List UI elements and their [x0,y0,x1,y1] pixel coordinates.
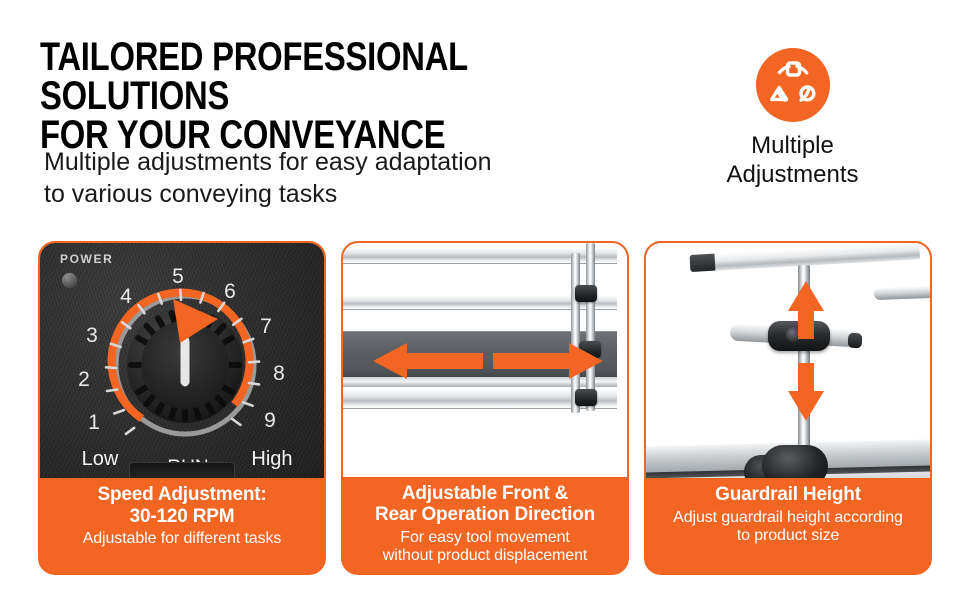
guardrail-height-photo [646,243,930,478]
feature-card-guardrail-height: Guardrail Height Adjust guardrail height… [644,241,932,575]
run-slot [129,462,235,478]
svg-text:9: 9 [264,409,276,432]
svg-text:6: 6 [224,280,236,303]
svg-text:1: 1 [88,411,100,434]
guardrail-post-rear [586,243,595,411]
guardrail-end-cap [690,254,716,272]
caption-operation-direction: Adjustable Front & Rear Operation Direct… [343,477,627,573]
conveyor-caster-wheel [762,445,828,478]
svg-text:8: 8 [273,362,285,385]
feature-card-operation-direction: Adjustable Front & Rear Operation Direct… [341,241,629,575]
guardrail-clamp-bottom [575,389,597,406]
caption-title: Speed Adjustment: 30-120 RPM [48,484,316,527]
guardrail-side-bar [874,286,930,300]
svg-text:Low: Low [82,448,119,470]
svg-text:5: 5 [172,265,184,288]
arrow-left-icon [369,341,487,381]
caption-subtitle: For easy tool movement without product d… [351,529,619,565]
caption-guardrail-height: Guardrail Height Adjust guardrail height… [646,478,930,573]
speed-dial-photo: POWER [40,243,324,478]
page-title: TAILORED PROFESSIONAL SOLUTIONS FOR YOUR… [40,38,581,156]
arrow-right-icon [489,341,607,381]
arrow-down-icon [786,361,826,423]
caption-subtitle: Adjust guardrail height according to pro… [654,509,922,545]
page-subtitle: Multiple adjustments for easy adaptation… [44,147,664,211]
marketing-feature-graphic: TAILORED PROFESSIONAL SOLUTIONS FOR YOUR… [0,0,970,600]
speed-dial-graphic: 1 2 3 4 5 6 7 8 9 Low High [40,243,324,478]
caption-subtitle: Adjustable for different tasks [48,530,316,548]
multiple-adjustments-icon [756,48,830,122]
caption-speed-adjustment: Speed Adjustment: 30-120 RPM Adjustable … [40,478,324,573]
guardrail-cross-bar-cap [848,333,863,349]
caption-title: Guardrail Height [654,484,922,506]
guardrail-clamp-top [575,285,597,302]
svg-text:3: 3 [86,324,98,347]
multiple-adjustments-badge: Multiple Adjustments [690,48,895,190]
feature-card-speed-adjustment: POWER [38,241,326,575]
conveyor-direction-photo [343,243,627,477]
caption-title: Adjustable Front & Rear Operation Direct… [351,483,619,526]
badge-label: Multiple Adjustments [690,131,895,190]
svg-text:4: 4 [120,285,132,308]
header-section: TAILORED PROFESSIONAL SOLUTIONS FOR YOUR… [0,0,970,230]
svg-text:2: 2 [78,368,90,391]
svg-text:High: High [251,448,292,470]
feature-panel-row: POWER [38,241,932,575]
arrow-up-icon [786,279,826,341]
svg-text:7: 7 [260,315,272,338]
